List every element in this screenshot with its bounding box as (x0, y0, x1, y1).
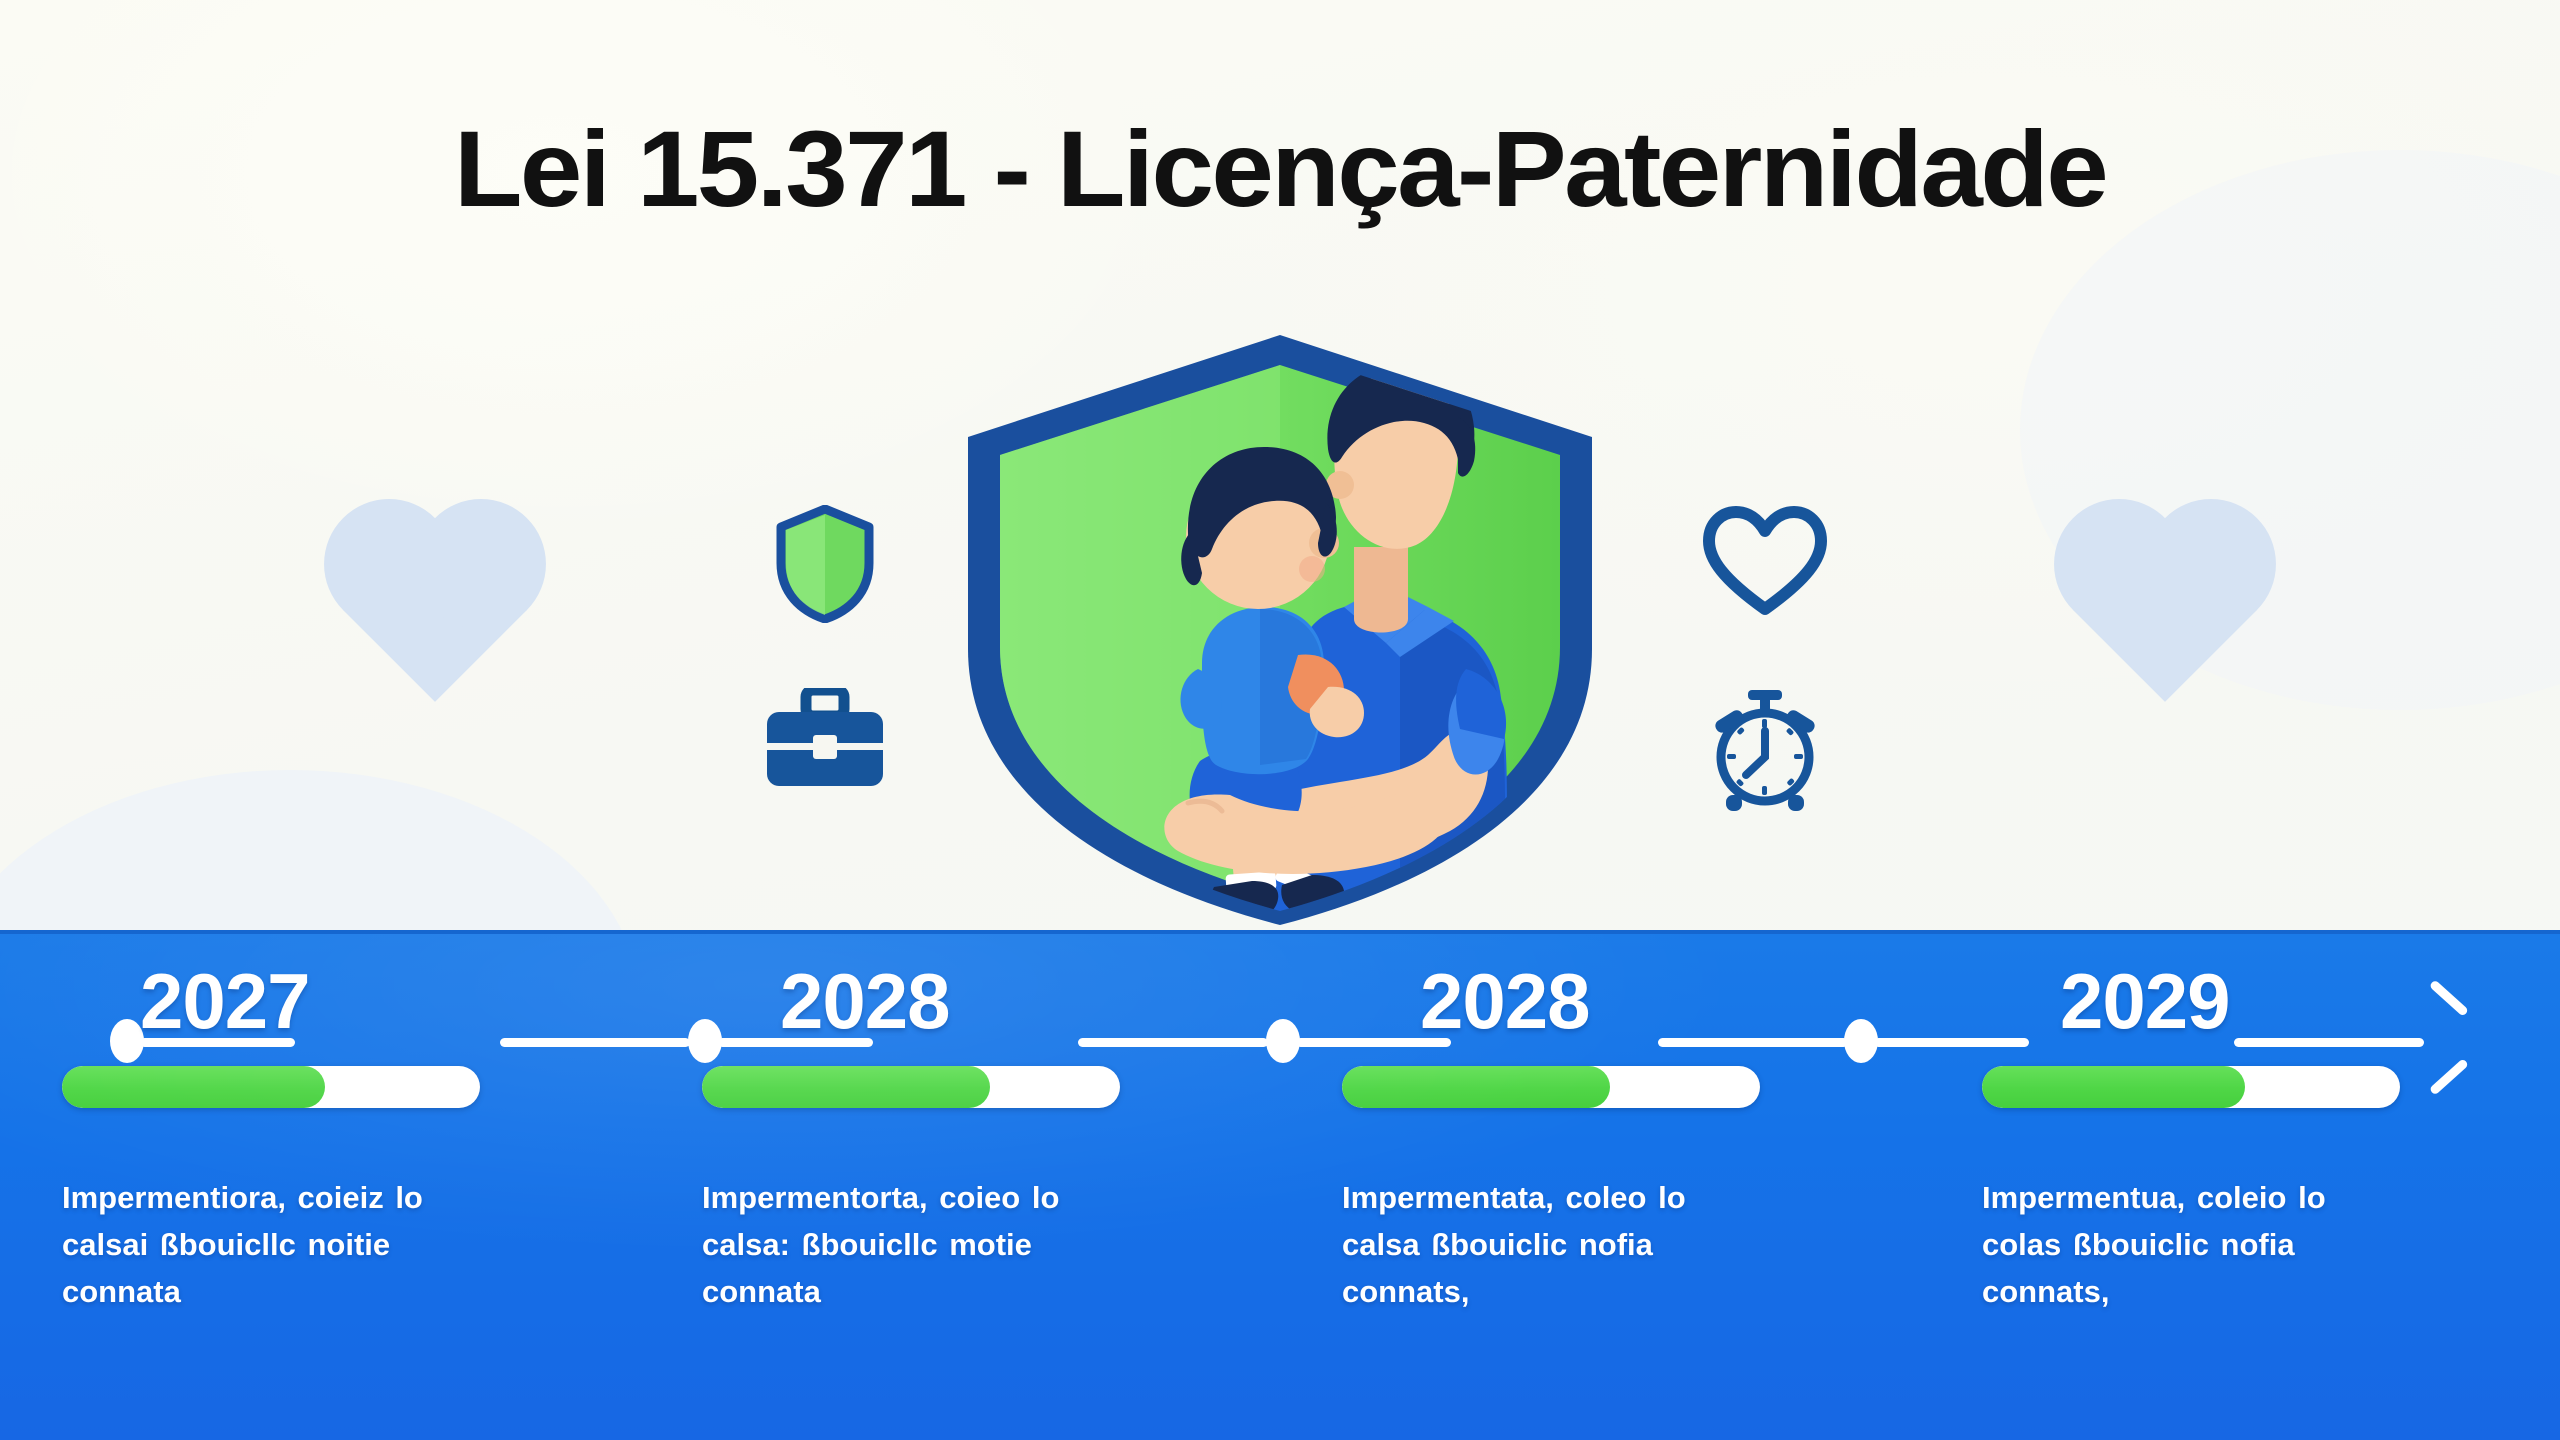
progress-bar (1982, 1066, 2400, 1108)
timeline-band: 2027 Impermentiora, coieiz lo calsai ßbo… (0, 930, 2560, 1440)
progress-bar-fill (1982, 1066, 2245, 1108)
heart-decor-left (343, 518, 527, 702)
right-icon-column (1670, 505, 1860, 818)
timeline-item[interactable]: 2028 Impermentata, coleo lo calsa ßbouic… (1280, 934, 1920, 1440)
progress-bar-fill (1342, 1066, 1610, 1108)
timeline-caption: Impermentorta, coieo lo calsa: ßbouicllc… (702, 1174, 1092, 1315)
timeline-year: 2029 (2060, 956, 2230, 1047)
left-icon-column (730, 505, 920, 793)
page-title: Lei 15.371 - Licença-Paternidade (0, 112, 2560, 226)
timeline-year: 2027 (140, 956, 310, 1047)
heart-outline-icon (1701, 505, 1829, 625)
progress-bar-fill (702, 1066, 990, 1108)
timeline-item[interactable]: 2029 Impermentua, coleio lo colas ßbouic… (1920, 934, 2560, 1440)
timeline-item[interactable]: 2028 Impermentorta, coieo lo calsa: ßbou… (640, 934, 1280, 1440)
timeline-caption: Impermentata, coleo lo calsa ßbouiclic n… (1342, 1174, 1732, 1315)
timeline-caption: Impermentiora, coieiz lo calsai ßbouicll… (62, 1174, 452, 1315)
alarm-clock-icon (1702, 685, 1828, 818)
timeline-caption: Impermentua, coleio lo colas ßbouiclic n… (1982, 1174, 2372, 1315)
infographic-poster: Lei 15.371 - Licença-Paternidade (0, 0, 2560, 1440)
timeline-year: 2028 (1420, 956, 1590, 1047)
progress-bar (62, 1066, 480, 1108)
timeline-columns: 2027 Impermentiora, coieiz lo calsai ßbo… (0, 934, 2560, 1440)
shield-with-father-and-child (930, 325, 1630, 935)
progress-bar (702, 1066, 1120, 1108)
timeline-year: 2028 (780, 956, 950, 1047)
shield-icon (775, 505, 875, 628)
progress-bar (1342, 1066, 1760, 1108)
briefcase-icon (764, 688, 886, 793)
progress-bar-fill (62, 1066, 325, 1108)
timeline-item[interactable]: 2027 Impermentiora, coieiz lo calsai ßbo… (0, 934, 640, 1440)
